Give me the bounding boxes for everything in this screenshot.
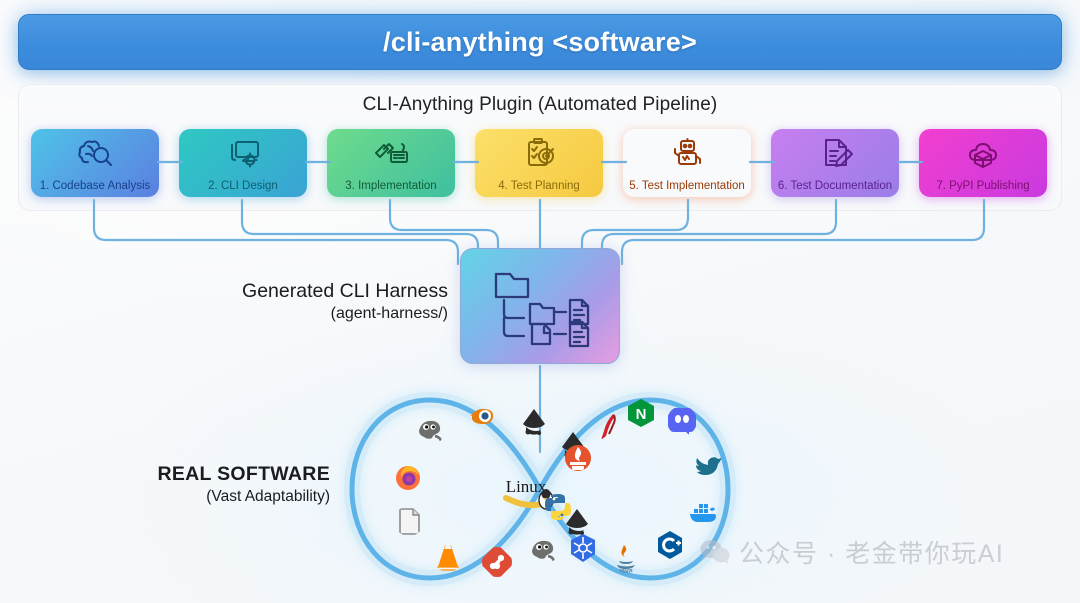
cloud-package-icon — [964, 136, 1002, 170]
file-tree-icon — [484, 264, 596, 348]
pipeline-step-5[interactable]: 5. Test Implementation — [623, 129, 751, 197]
pipeline-panel-title: CLI-Anything Plugin (Automated Pipeline) — [19, 94, 1061, 116]
infinity-loop: Linux Njava — [330, 382, 750, 597]
real-software-label: REAL SOFTWARE (Vast Adaptability) — [120, 463, 330, 506]
robot-icon — [668, 136, 706, 170]
real-software-subtitle: (Vast Adaptability) — [120, 488, 330, 506]
discord-logo — [667, 406, 697, 436]
harness-box[interactable] — [460, 248, 620, 364]
firefox-logo — [393, 462, 423, 492]
pipeline-step-label: 6. Test Documentation — [771, 180, 899, 192]
blender-logo — [467, 402, 497, 432]
pipeline-step-label: 4. Test Planning — [475, 180, 603, 192]
brain-magnifier-icon — [76, 136, 114, 170]
apache-logo — [596, 412, 626, 442]
hammer-keyboard-icon — [372, 136, 410, 170]
docker-logo — [688, 497, 718, 527]
pipeline-step-6[interactable]: 6. Test Documentation — [771, 129, 899, 197]
diagram-page: /cli-anything <software> CLI-Anything Pl… — [0, 0, 1080, 603]
harness-title: Generated CLI Harness — [232, 280, 448, 303]
pipeline-panel: CLI-Anything Plugin (Automated Pipeline)… — [18, 84, 1062, 211]
harness-label: Generated CLI Harness (agent-harness/) — [232, 280, 448, 323]
pipeline-step-3[interactable]: 3. Implementation — [327, 129, 455, 197]
harness-subtitle: (agent-harness/) — [232, 305, 448, 323]
pipeline-step-label: 2. CLI Design — [179, 180, 307, 192]
python-logo — [543, 492, 573, 522]
twitter-logo — [694, 451, 724, 481]
pipeline-step-label: 3. Implementation — [327, 180, 455, 192]
page-title-bar: /cli-anything <software> — [18, 14, 1062, 70]
gimp-logo-2 — [528, 535, 558, 565]
pipeline-step-label: 7. PyPI Publishing — [919, 180, 1047, 192]
pipeline-step-1[interactable]: 1. Codebase Analysis — [31, 129, 159, 197]
pipeline-step-label: 5. Test Implementation — [623, 180, 751, 192]
gimp-logo — [415, 415, 445, 445]
clipboard-target-icon — [520, 136, 558, 170]
libreoffice-logo — [394, 506, 424, 536]
prometheus-logo — [563, 443, 593, 473]
watermark-text: 公众号 · 老金带你玩AI — [739, 534, 1004, 570]
vlc-logo — [433, 542, 463, 572]
document-pencil-icon — [816, 136, 854, 170]
pipeline-step-2[interactable]: 2. CLI Design — [179, 129, 307, 197]
svg-text:N: N — [636, 406, 647, 423]
inkscape-logo — [519, 407, 549, 437]
pipeline-step-4[interactable]: 4. Test Planning — [475, 129, 603, 197]
java-logo: java — [611, 543, 641, 573]
cpp-logo — [655, 530, 685, 560]
real-software-title: REAL SOFTWARE — [120, 463, 330, 486]
pipeline-step-7[interactable]: 7. PyPI Publishing — [919, 129, 1047, 197]
page-title: /cli-anything <software> — [383, 27, 697, 58]
pipeline-step-label: 1. Codebase Analysis — [31, 180, 159, 192]
kubernetes-logo — [568, 533, 598, 563]
monitor-gear-icon — [224, 136, 262, 170]
watermark: 公众号 · 老金带你玩AI — [700, 534, 1004, 570]
wechat-icon — [700, 539, 730, 565]
git-logo — [482, 547, 512, 577]
nginx-logo: N — [626, 398, 656, 428]
